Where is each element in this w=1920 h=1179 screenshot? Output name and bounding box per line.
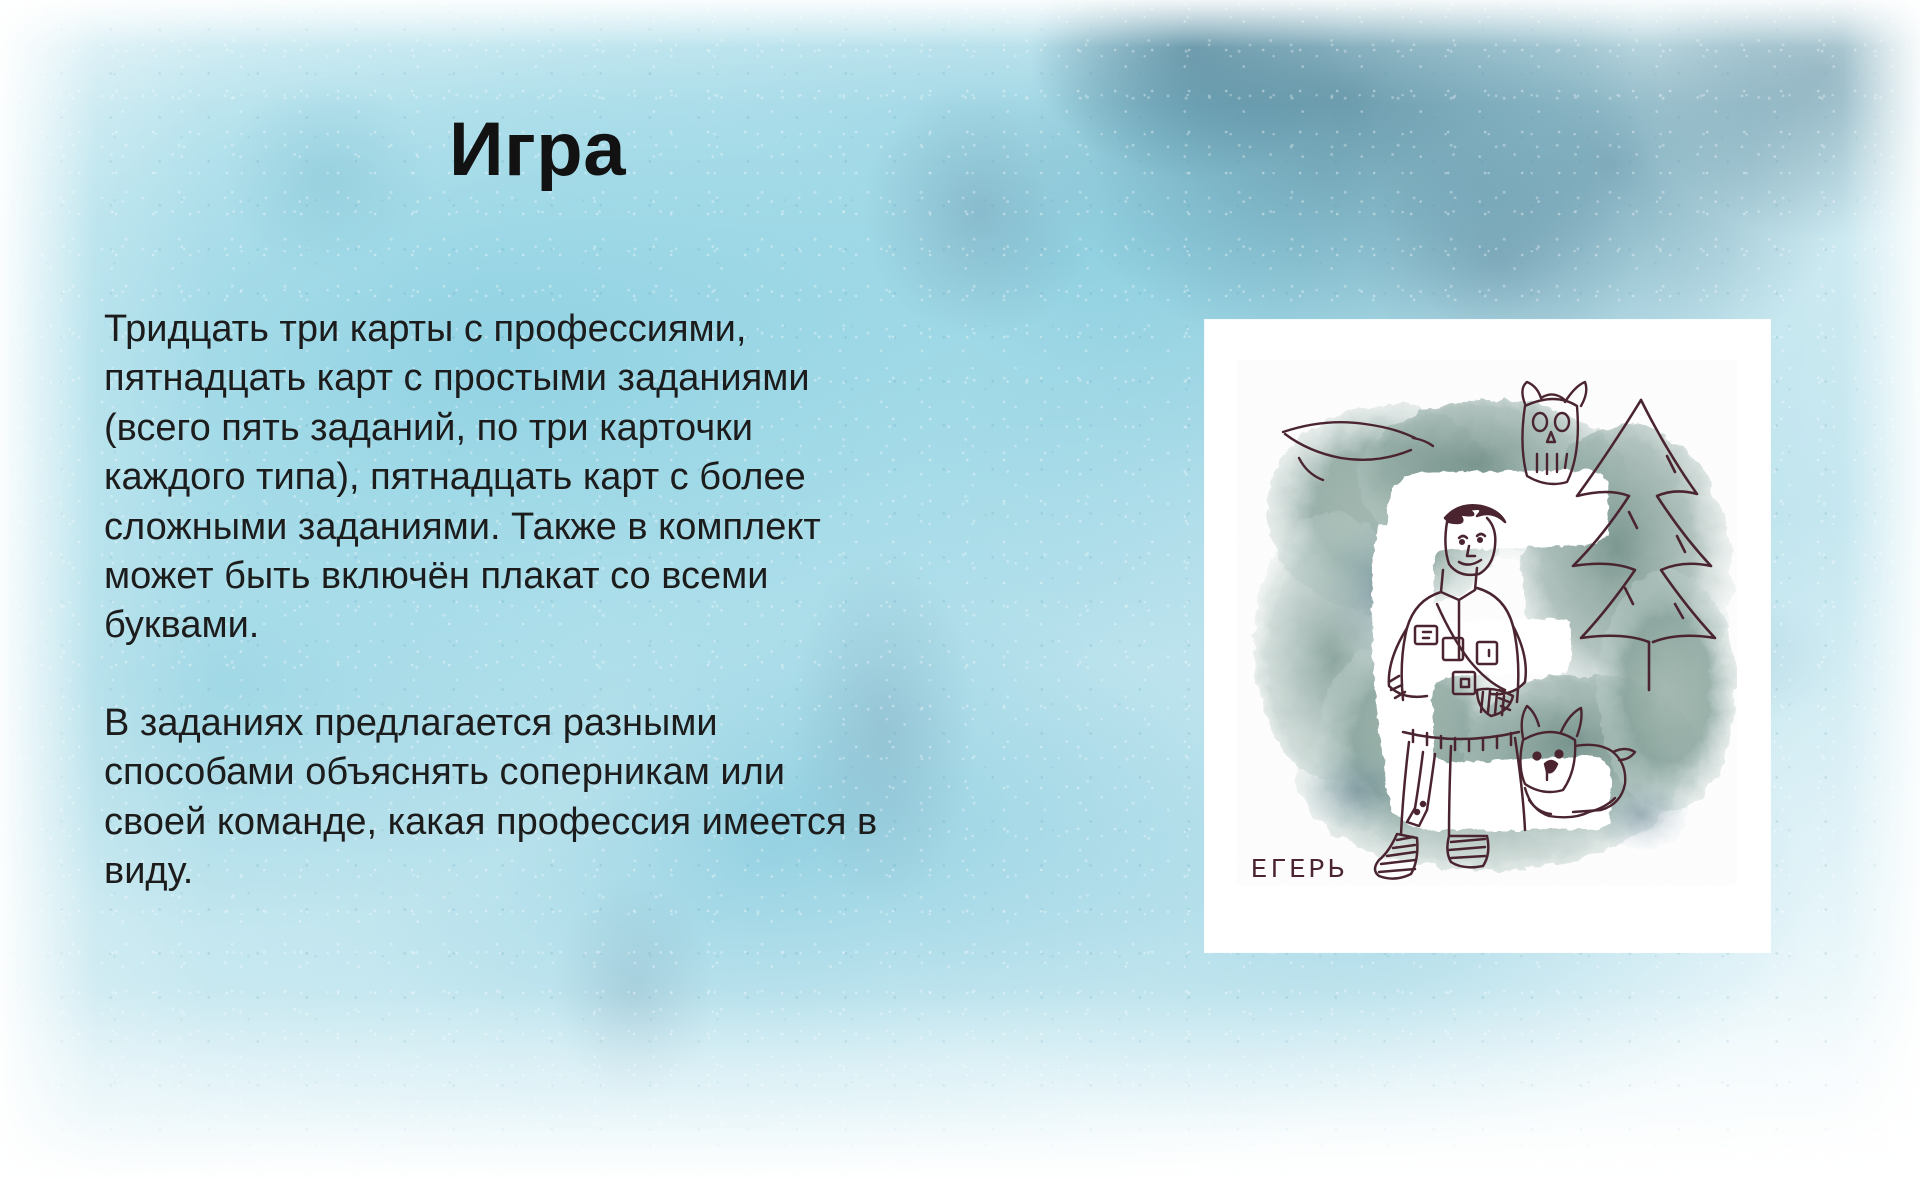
illustration-caption: ЕГЕРЬ [1251, 856, 1347, 886]
body-paragraph-1: Тридцать три карты с профессиями, пятнад… [104, 305, 894, 651]
slide-title: Игра [0, 112, 1075, 188]
watercolor-foliage-group [1237, 360, 1737, 885]
slide-body-text: Тридцать три карты с профессиями, пятнад… [104, 305, 894, 896]
illustration-artwork [1237, 360, 1737, 885]
body-paragraph-2: В заданиях предлагается разными способам… [104, 699, 894, 897]
illustration-card: ЕГЕРЬ [1205, 320, 1770, 952]
presentation-slide: Игра Тридцать три карты с профессиями, п… [0, 0, 1920, 1179]
